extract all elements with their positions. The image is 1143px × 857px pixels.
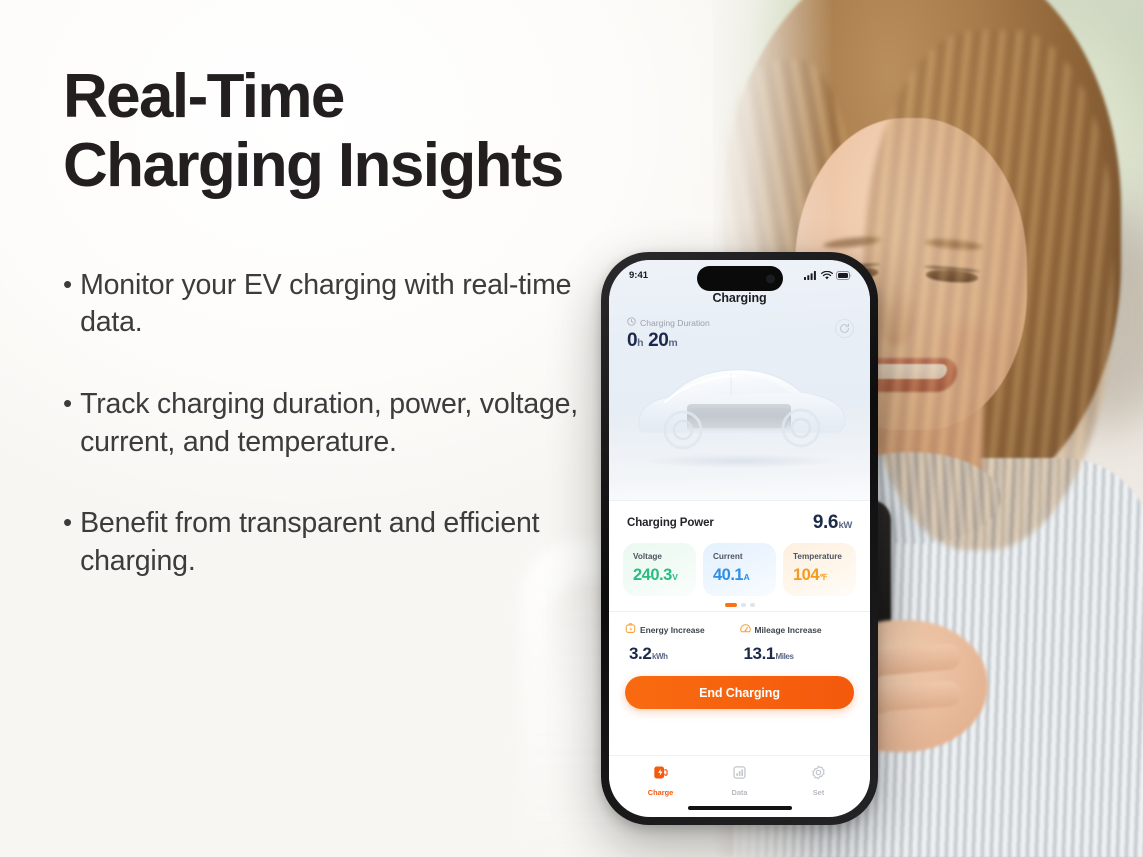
- page-title: Real-Time Charging Insights: [63, 62, 623, 201]
- charging-power-label: Charging Power: [627, 517, 714, 529]
- feature-bullet-list: • Monitor your EV charging with real-tim…: [63, 267, 623, 581]
- energy-increase-header: Energy Increase: [625, 623, 740, 636]
- page-dot-active[interactable]: [725, 603, 737, 607]
- tab-set[interactable]: Set: [779, 765, 858, 797]
- charging-duration-label-row: Charging Duration: [627, 317, 852, 328]
- settings-icon: [811, 765, 826, 785]
- bottom-tab-bar: Charge Data Set: [609, 755, 870, 801]
- increase-section: Energy Increase 3.2kWh Mileage Increase …: [609, 611, 870, 664]
- metric-number: 104: [793, 566, 819, 584]
- cta-container: End Charging: [609, 664, 870, 709]
- bullet-text: Benefit from transparent and efficient c…: [80, 505, 580, 580]
- metric-label: Current: [713, 552, 767, 561]
- battery-icon: [836, 271, 852, 280]
- list-item: • Track charging duration, power, voltag…: [63, 386, 623, 461]
- phone-mockup: 9:41 Charging: [601, 252, 878, 825]
- metric-card-current[interactable]: Current 40.1A: [703, 543, 776, 596]
- charging-power-row: Charging Power 9.6kW: [609, 500, 870, 543]
- metric-value: 240.3V: [633, 566, 687, 585]
- page-dot[interactable]: [741, 603, 746, 607]
- bullet-marker-icon: •: [63, 505, 72, 539]
- tab-label: Set: [813, 788, 825, 797]
- car-shadow: [645, 454, 835, 468]
- wifi-icon: [821, 271, 833, 280]
- mileage-unit: Miles: [776, 652, 794, 661]
- mileage-increase-label: Mileage Increase: [755, 625, 822, 635]
- metric-unit: ℉: [820, 572, 828, 582]
- dynamic-island: [697, 266, 783, 291]
- charging-hero-section: 9:41 Charging: [609, 260, 870, 500]
- metric-unit: V: [672, 572, 677, 582]
- metric-number: 240.3: [633, 566, 672, 584]
- screen-title: Charging: [609, 291, 870, 305]
- power-number: 9.6: [813, 512, 838, 533]
- bullet-marker-icon: •: [63, 386, 72, 420]
- tab-label: Charge: [648, 788, 673, 797]
- marketing-poster: Real-Time Charging Insights • Monitor yo…: [0, 0, 1143, 857]
- bullet-text: Monitor your EV charging with real-time …: [80, 267, 580, 342]
- status-bar-icons: [804, 271, 852, 280]
- phone-screen: 9:41 Charging: [609, 260, 870, 817]
- tab-label: Data: [731, 788, 747, 797]
- list-item: • Monitor your EV charging with real-tim…: [63, 267, 623, 342]
- refresh-icon[interactable]: [835, 319, 854, 338]
- list-item: • Benefit from transparent and efficient…: [63, 505, 623, 580]
- copy-column: Real-Time Charging Insights • Monitor yo…: [63, 62, 623, 581]
- energy-increase-icon: [625, 623, 636, 636]
- duration-hours: 0: [627, 330, 637, 351]
- charging-duration-label: Charging Duration: [640, 318, 710, 328]
- metric-label: Temperature: [793, 552, 847, 561]
- duration-minutes-unit: m: [668, 337, 677, 349]
- hair-strands-right: [863, 30, 1113, 550]
- mileage-increase-header: Mileage Increase: [740, 623, 855, 636]
- home-indicator: [688, 806, 792, 810]
- data-icon: [732, 765, 747, 785]
- charging-duration-value: 0h 20m: [627, 330, 852, 352]
- metric-label: Voltage: [633, 552, 687, 561]
- headline-line-1: Real-Time: [63, 62, 623, 131]
- charge-icon: [653, 765, 668, 785]
- mileage-increase-icon: [740, 623, 751, 636]
- mileage-increase-block: Mileage Increase 13.1Miles: [740, 623, 855, 664]
- tab-charge[interactable]: Charge: [621, 765, 700, 797]
- metric-card-row: Voltage 240.3V Current 40.1A Temperature…: [609, 543, 870, 596]
- metric-card-temperature[interactable]: Temperature 104℉: [783, 543, 856, 596]
- metric-value: 40.1A: [713, 566, 767, 585]
- charging-power-value: 9.6kW: [813, 512, 852, 534]
- cellular-signal-icon: [804, 271, 817, 280]
- energy-increase-block: Energy Increase 3.2kWh: [625, 623, 740, 664]
- end-charging-button[interactable]: End Charging: [625, 676, 854, 709]
- energy-increase-value: 3.2kWh: [625, 644, 740, 664]
- status-bar-time: 9:41: [629, 270, 648, 281]
- headline-line-2: Charging Insights: [63, 131, 623, 200]
- charging-duration-block: Charging Duration 0h 20m: [609, 305, 870, 352]
- mileage-number: 13.1: [744, 644, 776, 663]
- metric-number: 40.1: [713, 566, 743, 584]
- front-camera-icon: [766, 274, 775, 283]
- energy-unit: kWh: [652, 652, 668, 661]
- energy-increase-label: Energy Increase: [640, 625, 705, 635]
- metric-card-voltage[interactable]: Voltage 240.3V: [623, 543, 696, 596]
- carousel-page-indicator[interactable]: [609, 596, 870, 611]
- duration-hours-unit: h: [637, 337, 643, 349]
- ev-car-battery-illustration: [609, 352, 870, 482]
- power-unit: kW: [839, 520, 852, 531]
- metric-unit: A: [744, 572, 750, 582]
- clock-icon: [627, 317, 636, 328]
- page-dot[interactable]: [750, 603, 755, 607]
- mileage-increase-value: 13.1Miles: [740, 644, 855, 664]
- energy-number: 3.2: [629, 644, 651, 663]
- metric-value: 104℉: [793, 566, 847, 585]
- tab-data[interactable]: Data: [700, 765, 779, 797]
- bullet-text: Track charging duration, power, voltage,…: [80, 386, 580, 461]
- bullet-marker-icon: •: [63, 267, 72, 301]
- duration-minutes: 20: [648, 330, 668, 351]
